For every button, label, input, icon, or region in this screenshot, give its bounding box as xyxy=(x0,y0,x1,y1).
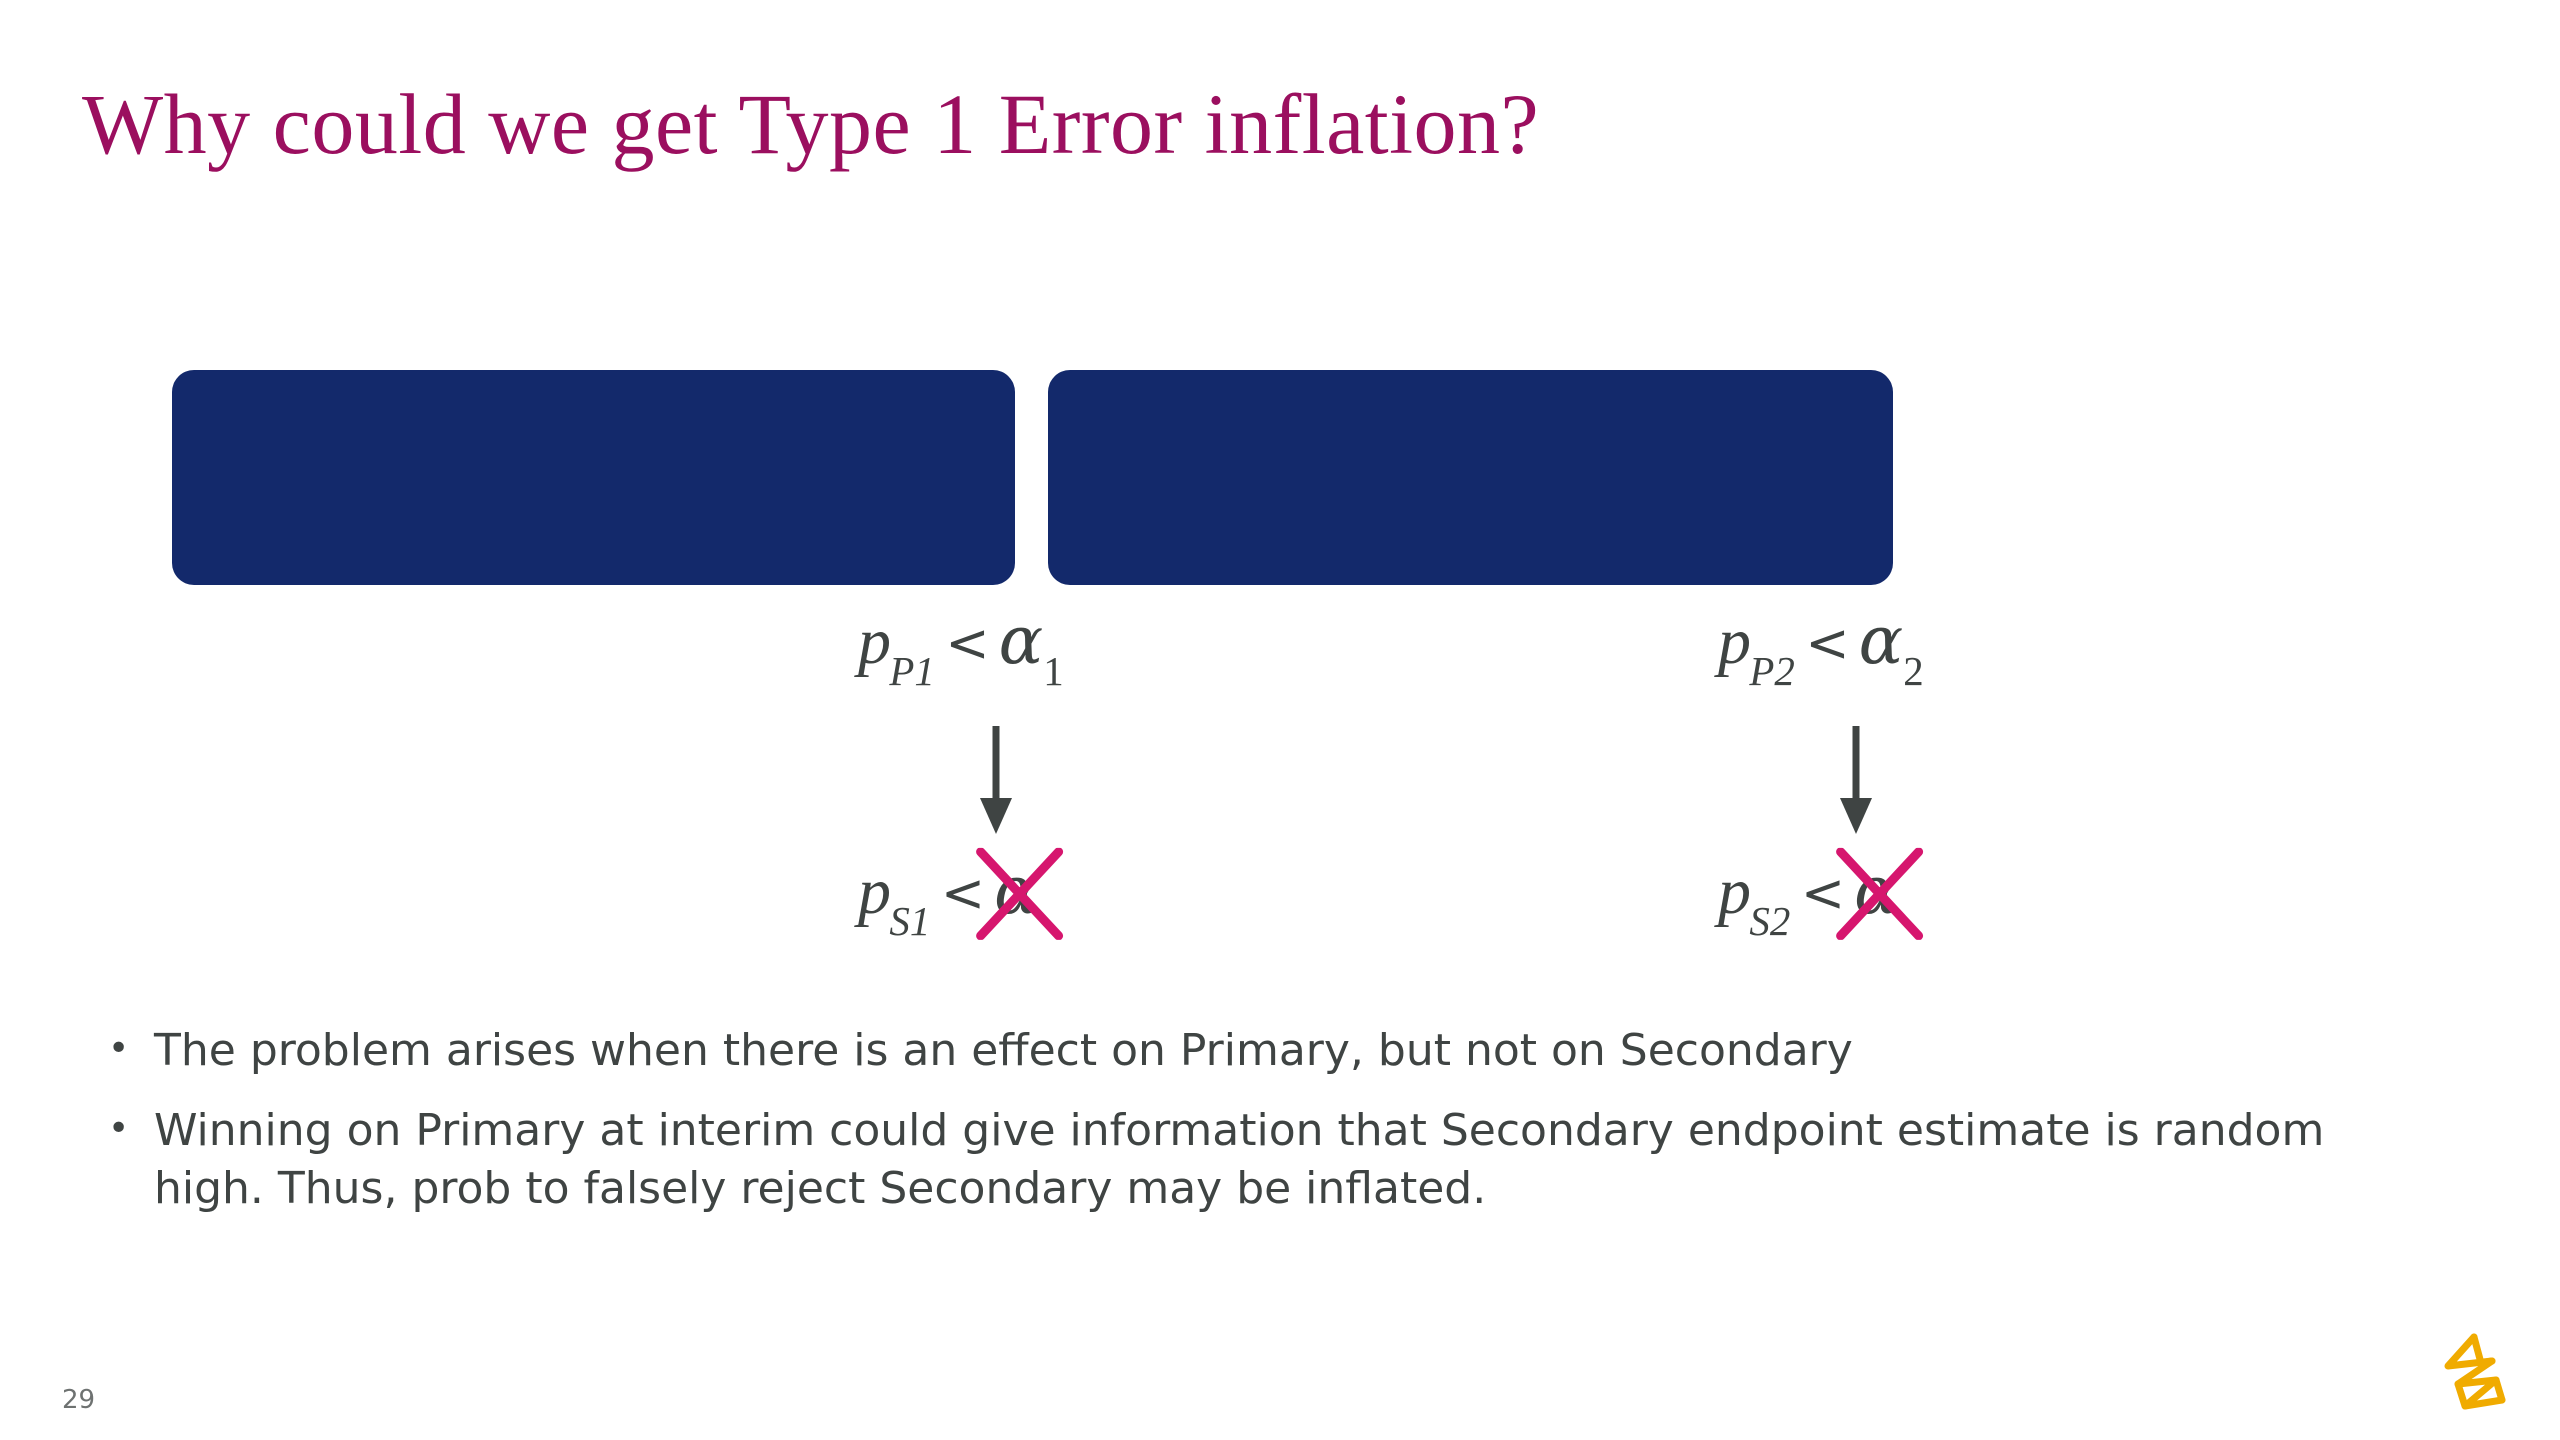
formula-p-subscript: S2 xyxy=(1749,899,1790,944)
primary-endpoint-box-1 xyxy=(172,370,1015,585)
formula-alpha-subscript: 1 xyxy=(1043,649,1063,694)
list-item: • The problem arises when there is an ef… xyxy=(108,1022,2508,1080)
slide-canvas: Why could we get Type 1 Error inflation?… xyxy=(0,0,2560,1440)
formula-operator: < xyxy=(932,863,994,924)
list-item: • Winning on Primary at interim could gi… xyxy=(108,1102,2508,1218)
bullet-marker-icon: • xyxy=(108,1022,154,1075)
down-arrow-icon xyxy=(1836,726,1876,836)
crossed-alpha-group: α xyxy=(994,858,1039,925)
formula-alpha-symbol: α xyxy=(1859,602,1904,679)
formula-p-subscript: S1 xyxy=(889,899,930,944)
crossed-alpha-group: α xyxy=(1854,858,1899,925)
bullet-marker-icon: • xyxy=(108,1102,154,1155)
formula-alpha-symbol: α xyxy=(994,852,1039,929)
formula-operator: < xyxy=(1792,863,1854,924)
astrazeneca-logo xyxy=(2432,1330,2528,1416)
formula-alpha-symbol: α xyxy=(999,602,1044,679)
formula-operator: < xyxy=(936,613,998,674)
formula-operator: < xyxy=(1796,613,1858,674)
formula-primary-2: pP2<α2 xyxy=(1718,608,1924,685)
bullet-list: • The problem arises when there is an ef… xyxy=(108,1022,2508,1240)
formula-secondary-2: pS2<α xyxy=(1718,858,1899,935)
page-title: Why could we get Type 1 Error inflation? xyxy=(82,78,2382,171)
down-arrow-icon xyxy=(976,726,1016,836)
bullet-text: The problem arises when there is an effe… xyxy=(154,1022,2434,1080)
formula-secondary-1: pS1<α xyxy=(858,858,1039,935)
primary-endpoint-box-2 xyxy=(1048,370,1893,585)
bullet-text: Winning on Primary at interim could give… xyxy=(154,1102,2434,1218)
formula-alpha-symbol: α xyxy=(1854,852,1899,929)
formula-alpha-subscript: 2 xyxy=(1903,649,1923,694)
formula-p-symbol: p xyxy=(1718,605,1751,678)
formula-primary-1: pP1<α1 xyxy=(858,608,1064,685)
formula-p-subscript: P2 xyxy=(1749,649,1794,694)
formula-p-symbol: p xyxy=(858,855,891,928)
formula-p-symbol: p xyxy=(858,605,891,678)
formula-p-symbol: p xyxy=(1718,855,1751,928)
formula-p-subscript: P1 xyxy=(889,649,934,694)
page-number: 29 xyxy=(62,1385,95,1415)
